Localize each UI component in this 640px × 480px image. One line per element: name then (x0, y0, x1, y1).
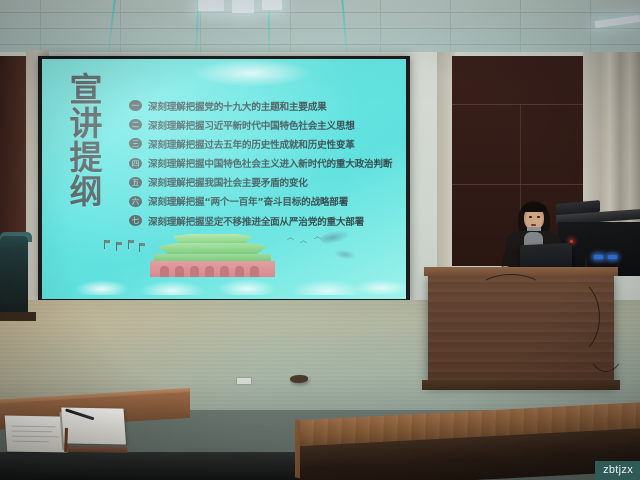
open-notebook (5, 406, 126, 458)
gate-lower-roof (158, 243, 267, 254)
blue-led-indicator (608, 255, 617, 259)
list-item: 二 深刻理解把握习近平新时代中国特色社会主义思想 (129, 118, 394, 131)
bullet-text: 深刻理解把握过去五年的历史性成就和历史性变革 (148, 137, 355, 151)
bullet-text: 深刻理解把握我国社会主要矛盾的变化 (148, 175, 308, 189)
projector-hotspot (192, 59, 312, 87)
slide-title-char-4: 纲 (59, 175, 113, 209)
bullet-number-badge: 六 (129, 196, 142, 207)
bullet-number-badge: 四 (129, 158, 142, 169)
flag-icon (128, 240, 129, 249)
cable (480, 274, 542, 302)
cloud-motif (42, 269, 406, 295)
small-floor-object (290, 375, 308, 383)
gate-mid-band (154, 254, 271, 261)
bullet-number-badge: 二 (129, 119, 142, 130)
left-chair (0, 236, 28, 314)
lecture-room-screenshot: 宣 讲 提 纲 一 深刻理解把握党的十九大的主题和主要成果 二 深刻理解把握习近… (0, 0, 640, 480)
ceiling-light-panel (198, 0, 224, 11)
flag-icon (139, 243, 140, 252)
cable (585, 300, 627, 372)
list-item: 三 深刻理解把握过去五年的历史性成就和历史性变革 (129, 137, 394, 150)
bullet-number-badge: 五 (129, 177, 142, 188)
slide-title-char-1: 宣 (59, 73, 113, 107)
list-item: 四 深刻理解把握中国特色社会主义进入新时代的重大政治判断 (129, 157, 394, 170)
podium-base (422, 380, 620, 390)
slide-title-char-3: 提 (59, 141, 113, 175)
left-wall-baseboard (0, 312, 36, 321)
ceiling-light-panel (232, 0, 254, 13)
bullet-text: 深刻理解把握党的十九大的主题和主要成果 (148, 99, 326, 113)
gate-upper-roof (173, 234, 252, 243)
ceiling-light-panel (262, 0, 282, 10)
notebook-left-page (5, 416, 68, 453)
slide-title-char-2: 讲 (59, 107, 113, 141)
desk-shadow (0, 452, 300, 480)
bird-icon: ︿ (287, 234, 294, 241)
bird-icon: ︿ (314, 233, 321, 240)
flag-icon (116, 242, 117, 251)
bird-icon: ︿ (300, 237, 307, 244)
speaker-mouth (531, 224, 536, 226)
slide-title: 宣 讲 提 纲 (59, 73, 113, 209)
dragon-motif-icon (333, 249, 356, 261)
list-item: 六 深刻理解把握“两个一百年”奋斗目标的战略部署 (129, 195, 394, 208)
projection-screen: 宣 讲 提 纲 一 深刻理解把握党的十九大的主题和主要成果 二 深刻理解把握习近… (42, 59, 406, 299)
flag-icon (104, 240, 105, 249)
slide-artwork-tiananmen: ︿ ︿ ︿ (42, 221, 406, 299)
bullet-number-badge: 一 (129, 100, 142, 111)
list-item: 五 深刻理解把握我国社会主要矛盾的变化 (129, 176, 394, 189)
bullet-text: 深刻理解把握习近平新时代中国特色社会主义思想 (148, 118, 355, 132)
slide-bullet-list: 一 深刻理解把握党的十九大的主题和主要成果 二 深刻理解把握习近平新时代中国特色… (129, 99, 394, 233)
bullet-number-badge: 三 (129, 138, 142, 149)
bullet-text: 深刻理解把握“两个一百年”奋斗目标的战略部署 (148, 194, 348, 208)
watermark: zbtjzx (595, 461, 640, 480)
floor-outlet-plate (236, 377, 252, 385)
blue-led-indicator (594, 255, 603, 259)
speaker-fringe (522, 203, 546, 212)
projection-screen-frame: 宣 讲 提 纲 一 深刻理解把握党的十九大的主题和主要成果 二 深刻理解把握习近… (38, 56, 410, 303)
list-item: 一 深刻理解把握党的十九大的主题和主要成果 (129, 99, 394, 112)
bullet-text: 深刻理解把握中国特色社会主义进入新时代的重大政治判断 (148, 156, 392, 170)
dragon-motif-icon (319, 228, 351, 246)
